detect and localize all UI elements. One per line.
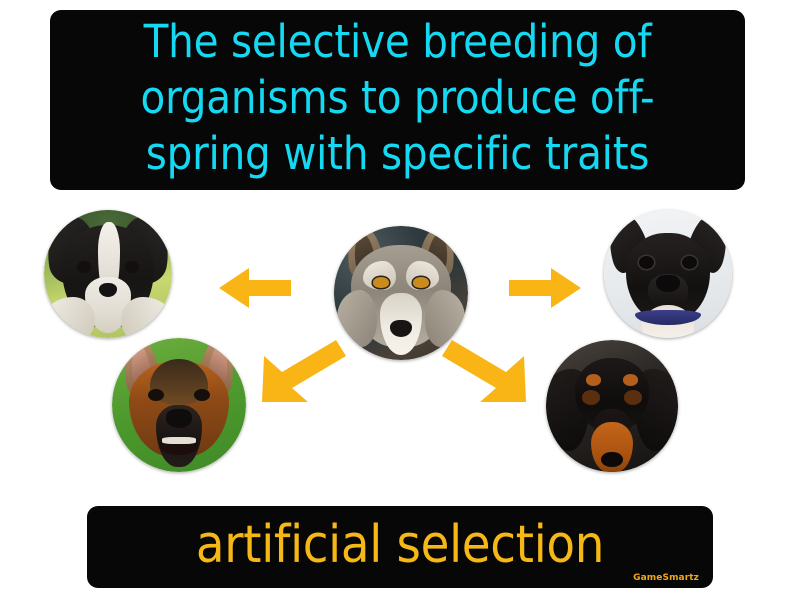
border-collie-photo	[44, 210, 172, 338]
arrow-left-icon	[219, 266, 291, 310]
definition-card: The selective breeding of organisms to p…	[0, 0, 800, 600]
definition-line-1: The selective breeding of	[144, 14, 652, 70]
arrow-down-right-icon	[442, 340, 528, 404]
term-banner: artificial selection GameSmartz	[87, 506, 713, 588]
arrow-down-left-icon	[260, 340, 346, 404]
definition-banner: The selective breeding of organisms to p…	[50, 10, 745, 190]
arrow-right-icon	[509, 266, 581, 310]
selective-breeding-diagram	[0, 190, 800, 506]
gamesmartz-watermark: GameSmartz	[633, 573, 699, 583]
dachshund-photo	[546, 340, 678, 472]
german-shepherd-photo	[112, 338, 246, 472]
definition-line-2: organisms to produce off-	[141, 70, 655, 126]
definition-line-3: spring with specific traits	[146, 126, 650, 182]
french-bulldog-photo	[604, 210, 732, 338]
term-text: artificial selection	[196, 517, 604, 573]
